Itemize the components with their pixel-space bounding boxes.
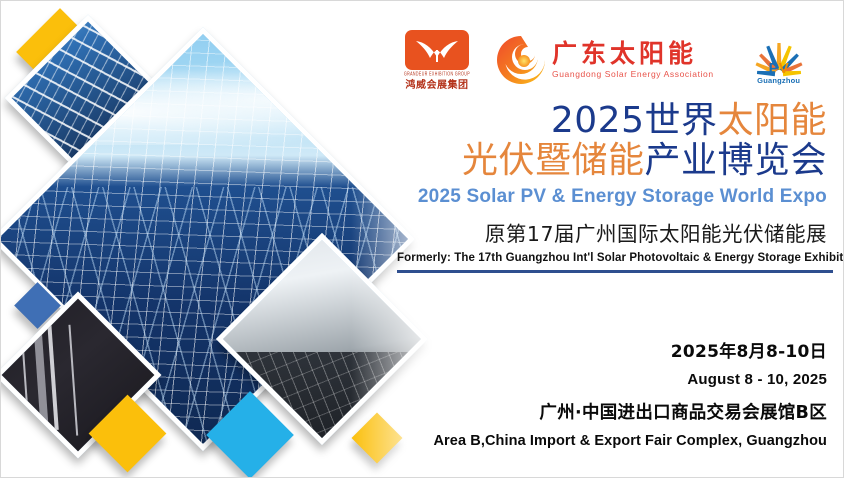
logo-pv-p: P [769, 60, 779, 77]
wings-w-icon [405, 30, 469, 70]
headline-line-1-orange: 太阳能 [717, 100, 827, 141]
headline-line-2-orange: 光伏暨储能 [462, 140, 645, 181]
headline-divider [397, 270, 833, 273]
solar-swirl-icon [495, 34, 547, 86]
venue-block: 2025年8月8-10日 August 8 - 10, 2025 广州·中国进出… [357, 337, 827, 449]
logo-gdsea-en: Guangdong Solar Energy Association [552, 69, 714, 79]
headline-line-1-navy: 2025世界 [551, 100, 718, 141]
headline-subtitle-en: 2025 Solar PV & Energy Storage World Exp… [397, 186, 827, 208]
logo-pv-city: Guangzhou [736, 76, 822, 85]
logo-hongwei-en: GRANDEUR EXHIBITION GROUP [404, 71, 470, 77]
logo-hongwei-exhibition-group[interactable]: GRANDEUR EXHIBITION GROUP 鸿威会展集团 [401, 30, 473, 91]
logo-guangdong-solar-energy-association[interactable]: 广东太阳能 Guangdong Solar Energy Association [495, 34, 714, 86]
logo-bar: GRANDEUR EXHIBITION GROUP 鸿威会展集团 [401, 27, 837, 93]
venue-date-cn: 2025年8月8-10日 [357, 337, 827, 362]
logo-pv-guangzhou[interactable]: PV Guangzhou [736, 34, 822, 86]
venue-place-cn: 广州·中国进出口商品交易会展馆B区 [357, 399, 827, 424]
headline-block: 2025世界太阳能 光伏暨储能产业博览会 2025 Solar PV & Ene… [397, 101, 827, 273]
logo-pv-v: V [779, 60, 789, 77]
headline-formerly-en: Formerly: The 17th Guangzhou Int'l Solar… [397, 252, 827, 264]
headline-subtitle-cn: 原第17届广州国际太阳能光伏储能展 [397, 217, 827, 247]
logo-gdsea-cn: 广东太阳能 [552, 41, 714, 66]
logo-pv-initials: PV [736, 61, 822, 76]
expo-poster: GRANDEUR EXHIBITION GROUP 鸿威会展集团 [0, 0, 844, 478]
headline-line-2: 光伏暨储能产业博览会 [397, 141, 827, 181]
venue-date-en: August 8 - 10, 2025 [357, 371, 827, 388]
headline-line-2-navy: 产业博览会 [644, 140, 827, 181]
logo-hongwei-cn: 鸿威会展集团 [406, 76, 469, 91]
venue-place-en: Area B,China Import & Export Fair Comple… [357, 433, 827, 449]
headline-line-1: 2025世界太阳能 [397, 101, 827, 141]
